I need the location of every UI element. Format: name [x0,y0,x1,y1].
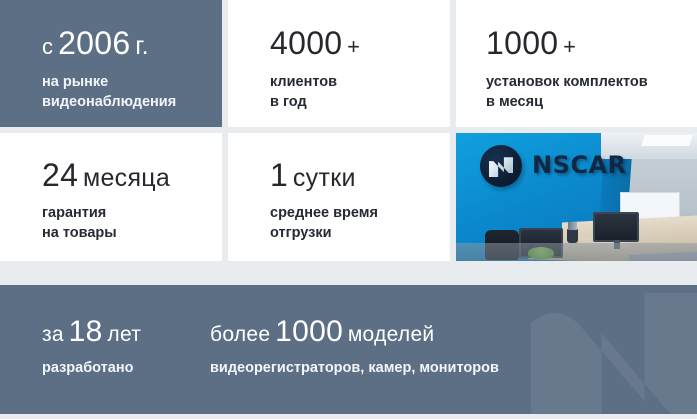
banner-content: за 18 лет разработано более 1000 моделей… [0,285,697,414]
stat-tile-content: 24 месяца гарантия на товары [0,159,222,243]
stat-headline: 4000 + [270,27,450,59]
stat-subtitle-line1: на рынке [42,72,222,92]
stat-tile-installations-per-month[interactable]: 1000 + установок комплектов в месяц [456,0,697,127]
stat-subtitle: установок комплектов в месяц [486,72,697,112]
stat-subtitle-line2: в месяц [486,92,697,112]
stats-page: с 2006 г. на рынке видеонаблюдения 4000 … [0,0,697,419]
stat-subtitle-line1: клиентов [270,72,450,92]
stat-subtitle: на рынке видеонаблюдения [42,72,222,112]
stat-number: 4000 [270,25,342,61]
stat-suffix: + [563,34,576,59]
banner-prefix: за [42,323,64,346]
banner-unit: лет [107,323,141,346]
banner-number: 18 [69,315,103,348]
stats-grid: с 2006 г. на рынке видеонаблюдения 4000 … [0,0,697,261]
stat-headline: 1000 + [486,27,697,59]
banner-prefix: более [210,323,270,346]
stat-subtitle-line1: установок комплектов [486,72,697,92]
stat-suffix: + [347,34,360,59]
stat-subtitle-line1: среднее время [270,203,450,223]
stat-tile-since-2006[interactable]: с 2006 г. на рынке видеонаблюдения [0,0,222,127]
banner-subtitle: разработано [42,358,141,378]
stat-headline: 1 сутки [270,159,450,191]
office-photo-tile[interactable]: NSCAR [456,133,697,261]
stat-headline: 24 месяца [42,159,222,191]
photo-floor [456,243,697,261]
stat-tile-clients-per-year[interactable]: 4000 + клиентов в год [228,0,450,127]
stat-unit: месяца [83,164,170,192]
stat-subtitle-line2: на товары [42,223,222,243]
stat-tile-content: 1000 + установок комплектов в месяц [456,27,697,112]
banner-stat-developed[interactable]: за 18 лет разработано [42,317,141,378]
stat-tile-warranty[interactable]: 24 месяца гарантия на товары [0,133,222,261]
stat-number: 24 [42,157,78,193]
nscar-wordmark: NSCAR [532,151,627,179]
stat-tile-content: 1 сутки среднее время отгрузки [228,159,450,243]
bottom-banner: за 18 лет разработано более 1000 моделей… [0,285,697,414]
stat-unit: сутки [293,164,356,192]
stat-unit: г. [135,32,149,60]
stat-number: 1000 [486,25,558,61]
bottom-edge-strip [0,414,697,419]
banner-unit: моделей [348,323,435,346]
banner-stat-models[interactable]: более 1000 моделей видеорегистраторов, к… [210,317,499,378]
stat-subtitle-line1: гарантия [42,203,222,223]
stat-number: 2006 [58,25,130,61]
stat-headline: с 2006 г. [42,27,222,59]
stat-subtitle-line2: видеонаблюдения [42,92,222,112]
stat-subtitle: гарантия на товары [42,203,222,243]
photo-ceiling-light [641,135,693,146]
banner-number: 1000 [275,315,343,348]
office-photo: NSCAR [456,133,697,261]
stat-tile-content: с 2006 г. на рынке видеонаблюдения [0,27,222,112]
stat-tile-content: 4000 + клиентов в год [228,27,450,112]
stat-prefix: с [42,34,53,59]
photo-monitor-right [593,212,639,242]
stat-subtitle-line2: в год [270,92,450,112]
banner-headline: более 1000 моделей [210,317,499,347]
stat-subtitle-line2: отгрузки [270,223,450,243]
stat-subtitle: среднее время отгрузки [270,203,450,243]
banner-headline: за 18 лет [42,317,141,347]
photo-pen-cup [567,229,578,243]
stat-subtitle: клиентов в год [270,72,450,112]
banner-subtitle: видеорегистраторов, камер, мониторов [210,358,499,378]
stat-number: 1 [270,157,288,193]
stat-tile-shipping-time[interactable]: 1 сутки среднее время отгрузки [228,133,450,261]
